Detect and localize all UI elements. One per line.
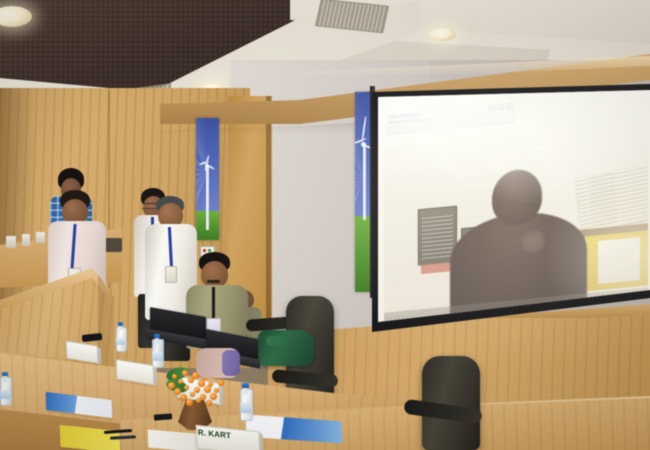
video-conference-window-titlebar[interactable]: Video Conference File Edit View Call Too…	[386, 102, 516, 136]
remote-participant-video	[384, 121, 648, 322]
flower-bloom	[184, 385, 189, 390]
counter-object	[36, 232, 45, 243]
flower-bloom	[168, 382, 175, 389]
bottle-label	[240, 403, 251, 413]
water-bottle-4[interactable]	[0, 372, 10, 406]
close-icon[interactable]	[506, 103, 513, 110]
flower-bloom	[190, 392, 195, 397]
flower-bloom	[174, 388, 181, 395]
conference-room-photo: Video Conference File Edit View Call Too…	[0, 0, 650, 450]
bottle-cap[interactable]	[154, 334, 160, 338]
water-bottle-2[interactable]	[152, 334, 162, 368]
poster-text-lines	[422, 212, 453, 259]
minimize-icon[interactable]	[488, 105, 495, 112]
white-notice-sheet	[588, 173, 619, 226]
downlight-icon	[430, 28, 456, 41]
water-bottle-1[interactable]	[116, 322, 125, 352]
bottle-label	[0, 390, 10, 399]
bottle-label	[116, 338, 125, 346]
turbine-hub-icon	[205, 164, 209, 168]
id-badge	[165, 266, 177, 283]
sleeve-cuff	[222, 350, 240, 376]
head	[201, 261, 228, 288]
turbine-hub-icon	[361, 142, 366, 147]
water-bottle-3[interactable]	[240, 383, 251, 421]
maximize-icon[interactable]	[497, 104, 504, 111]
bottle-cap[interactable]	[242, 383, 249, 388]
remote-cabinet-interior	[598, 237, 640, 285]
bag-flap	[266, 336, 306, 346]
turbine-tower-icon	[206, 167, 209, 230]
bottle-cap[interactable]	[2, 372, 8, 376]
flower-bloom	[206, 400, 212, 406]
window-controls[interactable]	[488, 103, 513, 111]
turbine-tower-icon	[363, 144, 366, 220]
bottle-label	[152, 352, 162, 361]
whiteboard-marker[interactable]	[154, 413, 172, 420]
flower-bloom	[196, 398, 201, 403]
counter-object	[22, 234, 30, 246]
flower-bloom	[186, 399, 193, 406]
flower-bloom	[178, 379, 183, 384]
lanyard	[212, 287, 215, 321]
seated-person-arm-right-edge	[196, 348, 240, 396]
bottle-cap[interactable]	[118, 322, 124, 326]
projection-screen[interactable]: Video Conference File Edit View Call Too…	[378, 90, 650, 322]
moustache	[207, 280, 220, 283]
counter-object	[6, 236, 16, 248]
wind-turbine-banner-left	[196, 118, 219, 240]
flower-bloom	[172, 374, 177, 379]
flower-bloom	[182, 370, 188, 376]
flower-bloom	[188, 377, 194, 383]
